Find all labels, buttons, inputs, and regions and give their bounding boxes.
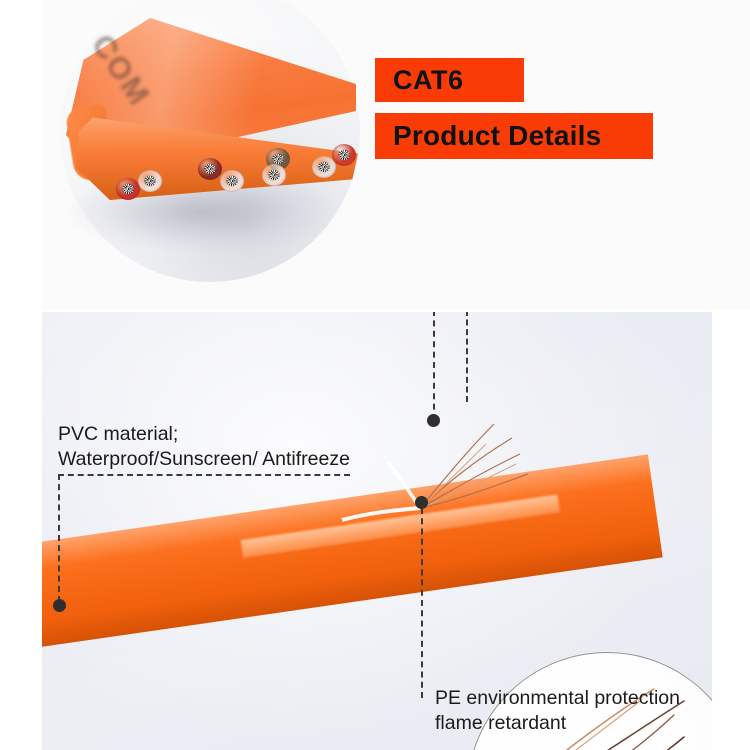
conductor-core-8 — [339, 150, 350, 160]
conductor-core-3 — [205, 164, 216, 174]
conductor-6 — [262, 164, 286, 186]
leader-line-pe — [421, 508, 423, 698]
conductor-2 — [138, 170, 162, 192]
conductor-8 — [332, 144, 356, 166]
bottom-panel — [42, 312, 712, 750]
cable-body: COM — [66, 18, 356, 208]
banner-product-details: Product Details — [375, 113, 653, 159]
conductor-core-1 — [123, 184, 134, 194]
conductor-3 — [198, 158, 222, 180]
banner-cat6: CAT6 — [375, 58, 524, 102]
leader-line-upper-right — [466, 312, 468, 402]
top-panel: COM CAT6 Product Details — [42, 0, 750, 310]
annotation-pvc: PVC material; Waterproof/Sunscreen/ Anti… — [58, 422, 350, 472]
leader-line-strands — [433, 312, 435, 420]
marker-jacket — [53, 599, 66, 612]
conductor-core-4 — [227, 176, 238, 186]
banner-cat6-label: CAT6 — [393, 65, 464, 96]
annotation-pe: PE environmental protection flame retard… — [435, 686, 680, 736]
leader-line-pvc-vertical — [58, 474, 60, 602]
conductor-core-5 — [273, 154, 284, 164]
conductor-4 — [220, 170, 244, 192]
product-detail-page: COM CAT6 Product Details — [0, 0, 750, 750]
conductor-core-2 — [145, 176, 156, 186]
banner-product-details-label: Product Details — [393, 120, 601, 152]
conductor-core-6 — [269, 170, 280, 180]
cable-cross-section-photo: COM — [42, 0, 372, 310]
leader-line-pvc-horizontal — [58, 474, 350, 476]
conductor-1 — [116, 178, 140, 200]
marker-cable-split — [415, 496, 428, 509]
marker-conductor-strands — [427, 414, 440, 427]
conductor-core-7 — [319, 162, 330, 172]
